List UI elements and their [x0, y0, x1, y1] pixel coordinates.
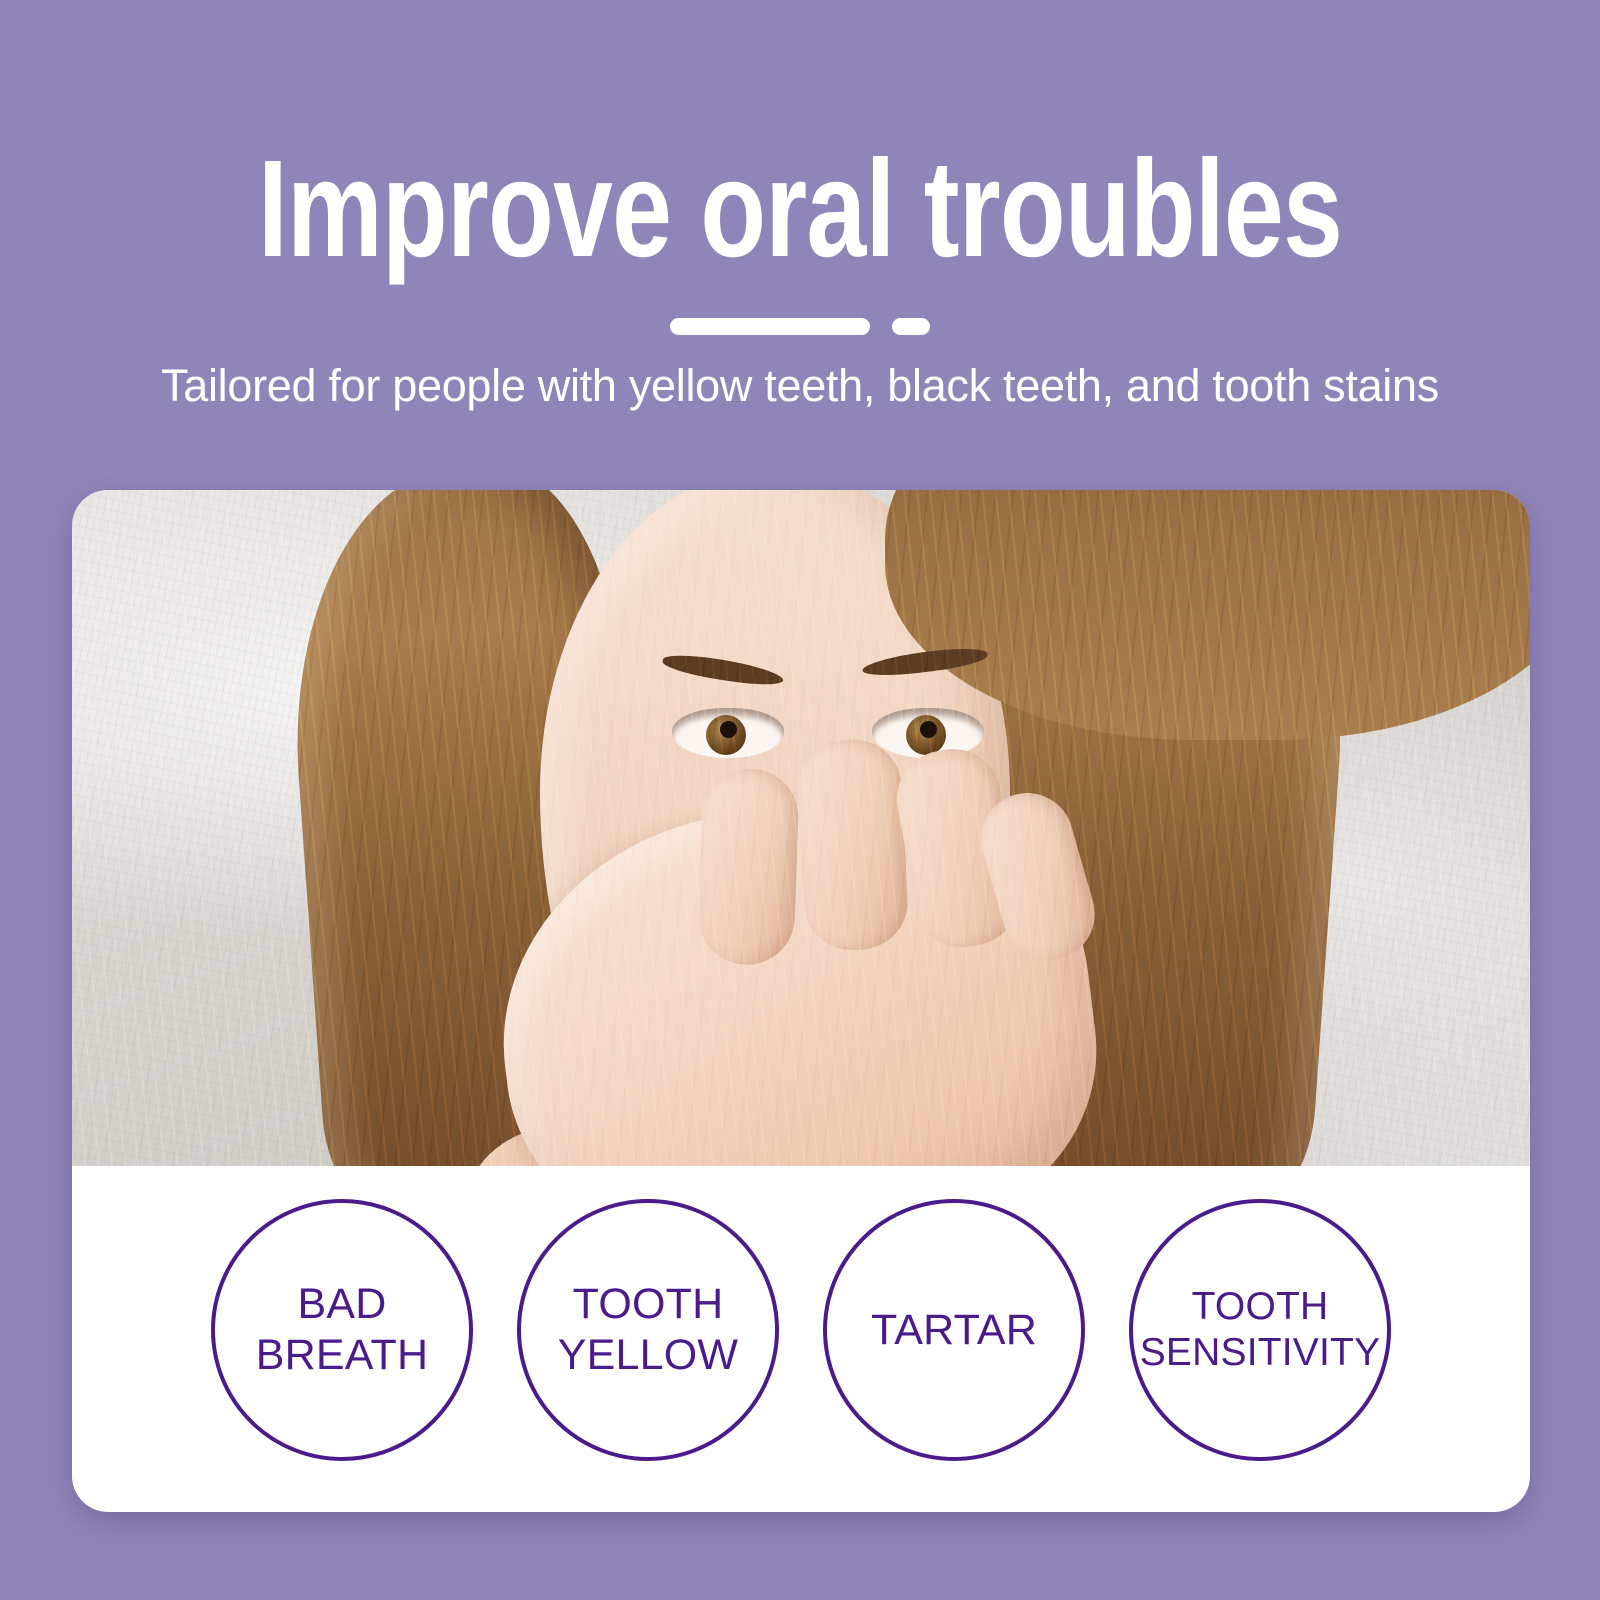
pupil-right	[920, 721, 937, 738]
content-card: BAD BREATH TOOTH YELLOW TARTAR TOOTH SEN…	[72, 490, 1530, 1512]
feature-label-line1: TARTAR	[871, 1305, 1037, 1356]
hair-top	[885, 490, 1530, 740]
header: Improve oral troubles Tailored for peopl…	[0, 0, 1600, 490]
feature-circle-tooth-sensitivity[interactable]: TOOTH SENSITIVITY	[1129, 1199, 1391, 1461]
feature-circle-tartar[interactable]: TARTAR	[823, 1199, 1085, 1461]
eye-left	[672, 708, 784, 758]
feature-label-line2: SENSITIVITY	[1140, 1330, 1381, 1376]
divider-bar-icon	[670, 318, 870, 335]
feature-label-line2: BREATH	[256, 1330, 428, 1381]
feature-circle-tooth-yellow[interactable]: TOOTH YELLOW	[517, 1199, 779, 1461]
hero-photo	[72, 490, 1530, 1166]
feature-label-line1: TOOTH	[573, 1279, 724, 1330]
divider-dash-icon	[892, 318, 930, 335]
title-divider	[0, 318, 1600, 335]
feature-label-line2: YELLOW	[558, 1330, 738, 1381]
finger-1	[697, 767, 800, 966]
finger-2	[795, 737, 910, 952]
feature-circle-bad-breath[interactable]: BAD BREATH	[211, 1199, 473, 1461]
feature-label-line1: BAD	[297, 1279, 386, 1330]
pupil-left	[720, 721, 737, 738]
page-subtitle: Tailored for people with yellow teeth, b…	[0, 360, 1600, 412]
oral-care-promo-page: { "theme": { "background_purple": "#9085…	[0, 0, 1600, 1600]
page-title: Improve oral troubles	[176, 140, 1424, 278]
feature-circle-row: BAD BREATH TOOTH YELLOW TARTAR TOOTH SEN…	[72, 1166, 1530, 1512]
feature-label-line1: TOOTH	[1192, 1284, 1329, 1330]
